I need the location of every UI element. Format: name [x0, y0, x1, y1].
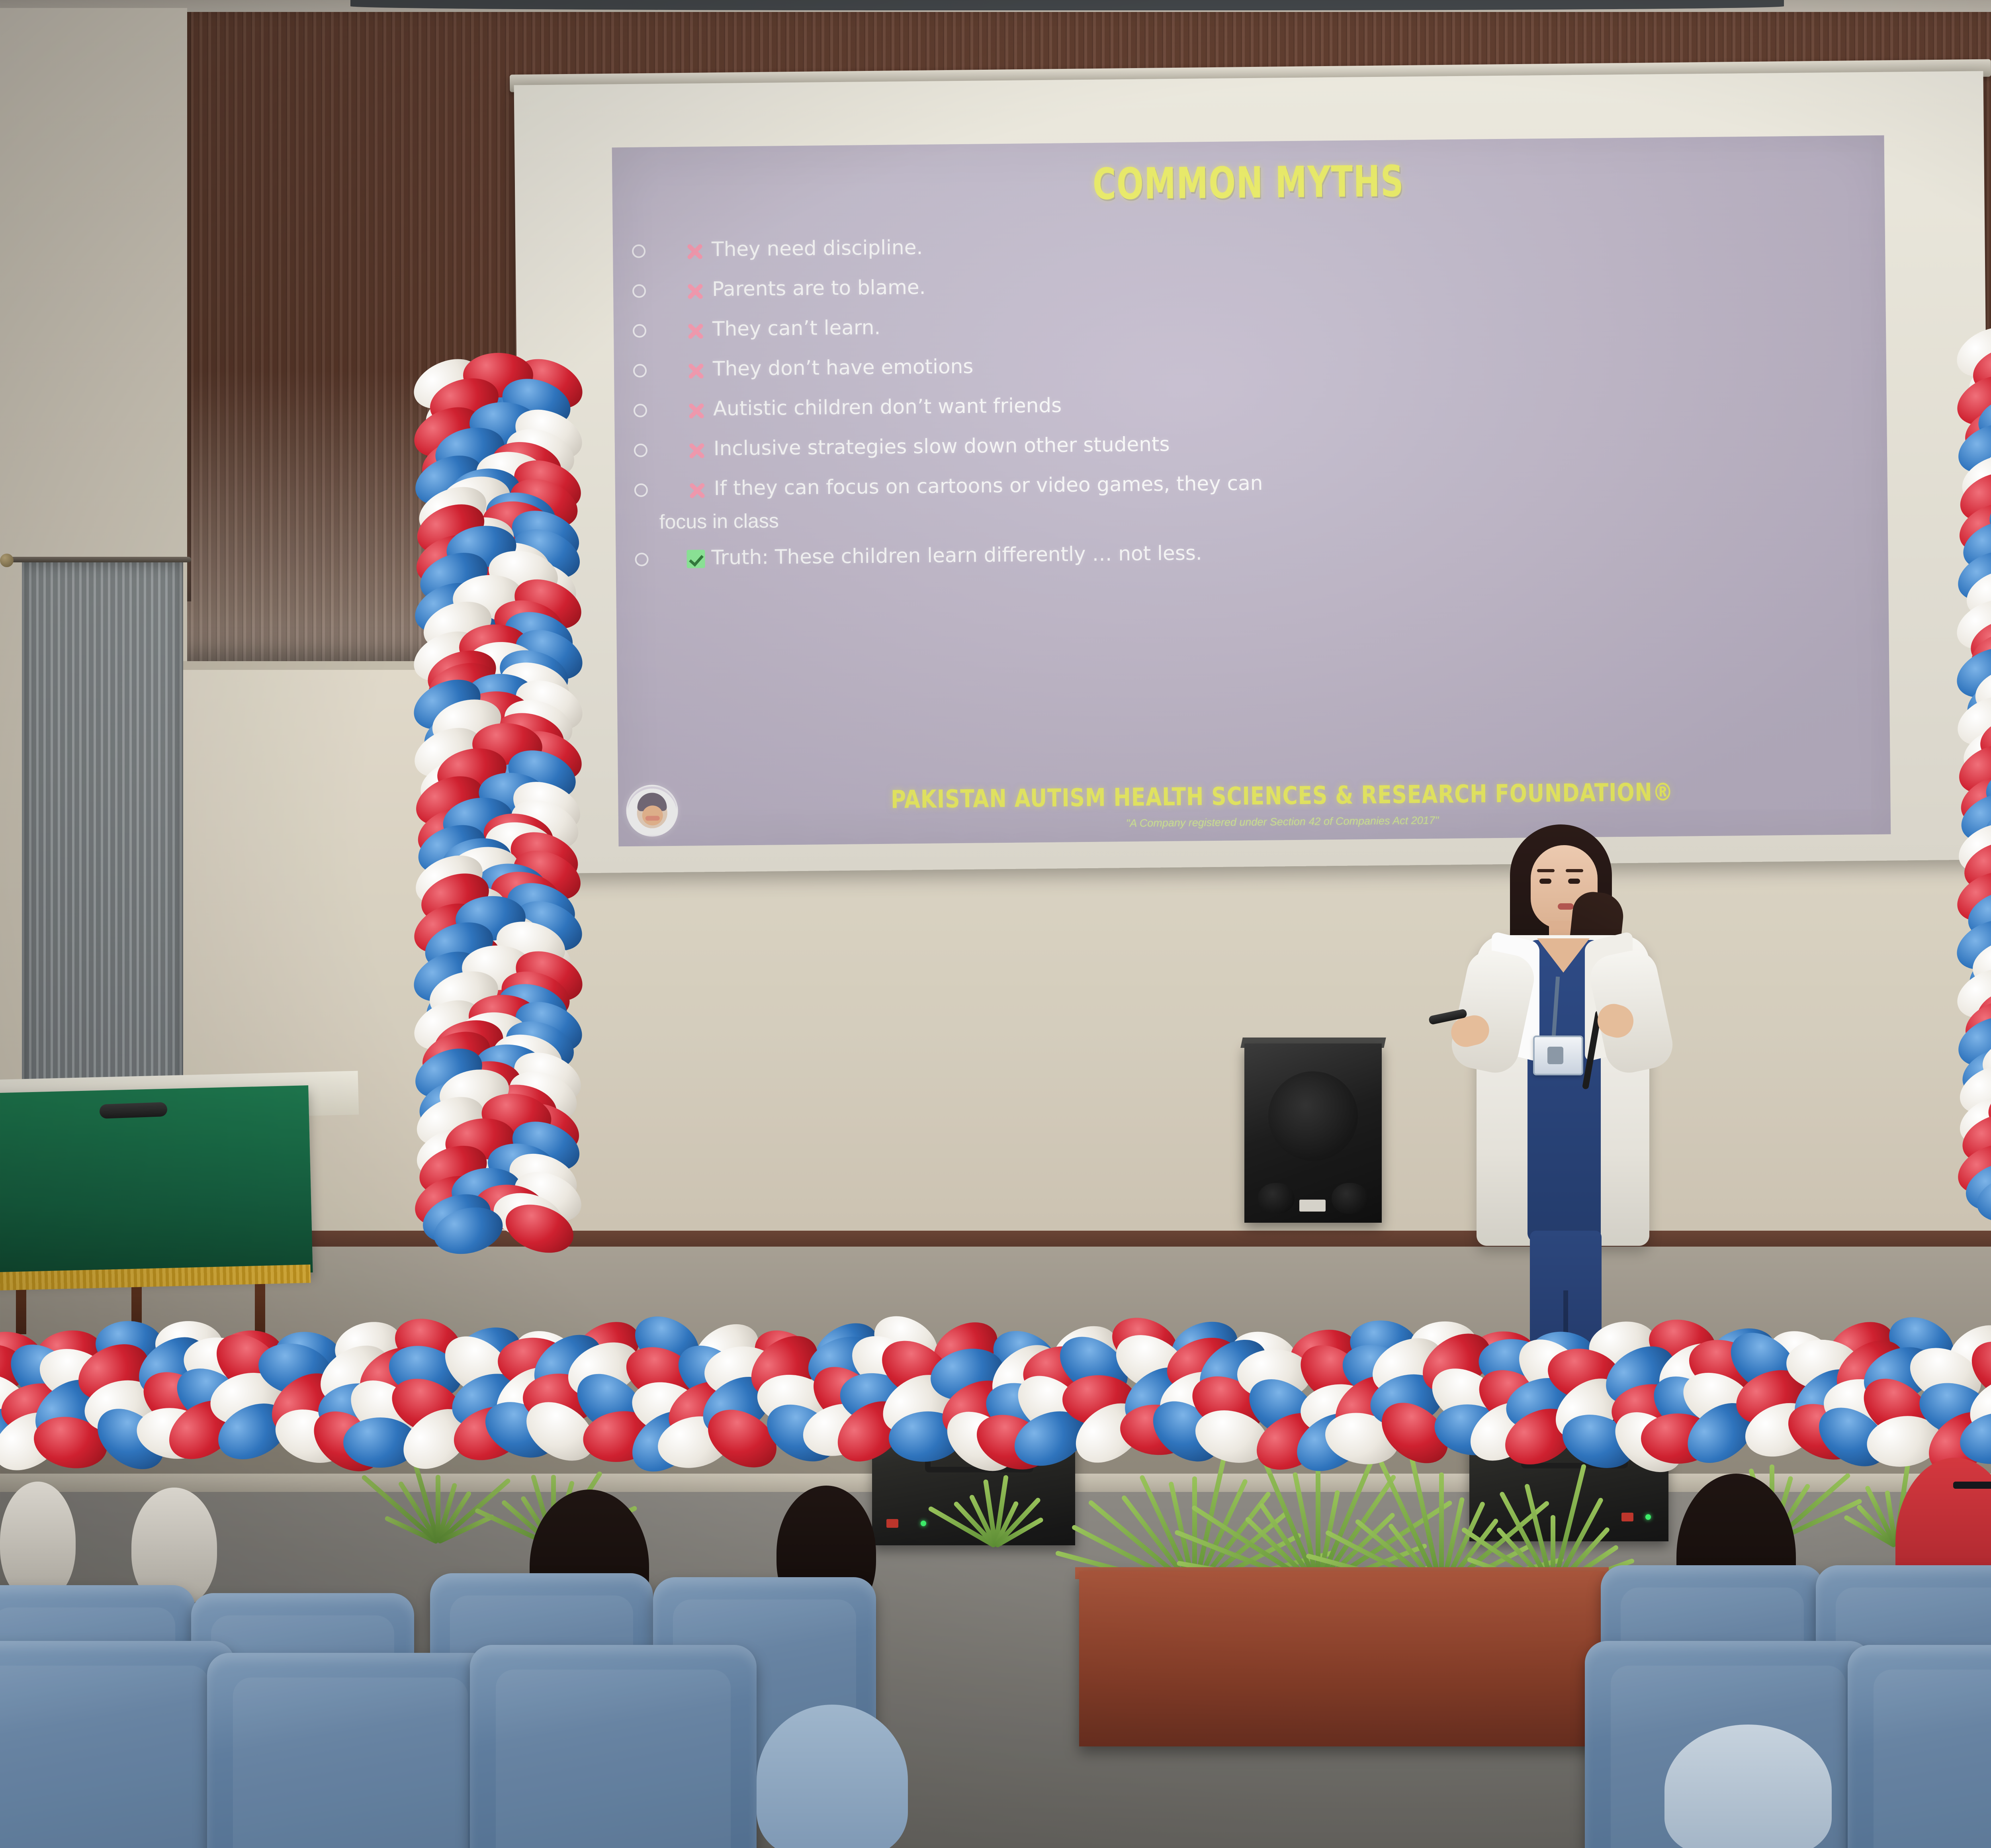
ceiling-trim [350, 0, 1784, 10]
bullet-ring-icon [633, 324, 646, 338]
x-mark-icon [685, 399, 707, 421]
monitor-led-right [1645, 1514, 1651, 1520]
bullet-ring-icon [634, 404, 647, 417]
bullet-ring-icon [635, 553, 648, 566]
bullet-ring-icon [634, 484, 648, 497]
x-mark-icon [686, 479, 708, 501]
presentation-slide: COMMON MYTHS They need discipline. Paren… [612, 135, 1891, 847]
monitor-led-left [921, 1521, 926, 1526]
presenter-brow-left [1537, 869, 1555, 872]
list-item: They need discipline. [629, 227, 1861, 264]
speaker-port-left [1258, 1183, 1295, 1214]
list-item: Autistic children don’t want friends [630, 386, 1863, 423]
bullet-text: They don’t have emotions [713, 355, 974, 380]
footer-text-block: PAKISTAN AUTISM HEALTH SCIENCES & RESEAR… [678, 775, 1883, 834]
jbl-logo [1299, 1200, 1326, 1212]
slide-bullet-list: They need discipline. Parents are to bla… [629, 227, 1864, 587]
presenter-brow-right [1566, 869, 1583, 872]
left-curtain-finial [0, 554, 14, 567]
speaker-cone-icon [1268, 1071, 1358, 1161]
planter-box [1079, 1571, 1605, 1746]
presenter-eye-left [1539, 879, 1551, 884]
x-mark-icon [685, 319, 706, 341]
list-item: They don’t have emotions [630, 346, 1862, 383]
monitor-switch-right[interactable] [1621, 1513, 1633, 1521]
bullet-ring-icon [633, 364, 647, 378]
left-window-curtain[interactable] [22, 562, 183, 1096]
foundation-logo-icon [626, 785, 678, 837]
bullet-text-continuation: focus in class [659, 499, 1864, 533]
auditorium-seat[interactable] [470, 1645, 757, 1848]
presenter-eye-right [1568, 879, 1580, 884]
fern-plant [995, 1545, 996, 1546]
bullet-text: If they can focus on cartoons or video g… [714, 472, 1263, 499]
organization-name: PAKISTAN AUTISM HEALTH SCIENCES & RESEAR… [724, 776, 1841, 816]
auditorium-seat[interactable] [1848, 1645, 1991, 1848]
bullet-ring-icon [632, 284, 646, 298]
bullet-text: Truth: These children learn differently … [711, 542, 1202, 569]
bullet-ring-icon [632, 245, 645, 258]
audience-headscarf [1664, 1725, 1832, 1848]
monitor-switch-left[interactable] [886, 1519, 898, 1528]
auditorium-seat[interactable] [207, 1653, 494, 1848]
audience-member-head [0, 1482, 76, 1601]
id-badge [1533, 1036, 1583, 1075]
badge-photo [1547, 1047, 1563, 1064]
check-mark-icon [686, 550, 705, 568]
list-item: They can’t learn. [630, 307, 1862, 343]
x-mark-icon [684, 240, 706, 262]
auditorium-seat[interactable] [0, 1641, 235, 1848]
list-item: Parents are to blame. [629, 267, 1862, 303]
presenter-mouth [1558, 903, 1574, 910]
auditorium-scene: COMMON MYTHS They need discipline. Paren… [0, 0, 1991, 1848]
slide-title: COMMON MYTHS [727, 153, 1770, 213]
bullet-text: Inclusive strategies slow down other stu… [714, 433, 1170, 460]
list-item: Inclusive strategies slow down other stu… [631, 426, 1863, 463]
left-curtain-rod [4, 557, 191, 562]
presenter [1418, 820, 1696, 1406]
x-mark-icon [684, 280, 706, 301]
sunglasses-on-head-icon [1953, 1482, 1991, 1489]
bullet-text: They can’t learn. [712, 316, 881, 340]
bullet-text: Autistic children don’t want friends [713, 394, 1062, 420]
list-item: If they can focus on cartoons or video g… [631, 466, 1864, 503]
list-item: Truth: These children learn differently … [632, 535, 1864, 572]
bullet-text: They need discipline. [712, 236, 923, 260]
fern-plant [438, 1541, 439, 1542]
x-mark-icon [686, 439, 708, 461]
bullet-ring-icon [634, 444, 647, 457]
subwoofer-speaker [1244, 1043, 1382, 1223]
audience-headscarf [757, 1705, 908, 1848]
logo-smile-shape [645, 816, 660, 820]
bullet-text: Parents are to blame. [712, 276, 926, 300]
x-mark-icon [685, 359, 707, 381]
speaker-port-right [1332, 1183, 1368, 1214]
remote-control-on-table[interactable] [99, 1102, 167, 1119]
